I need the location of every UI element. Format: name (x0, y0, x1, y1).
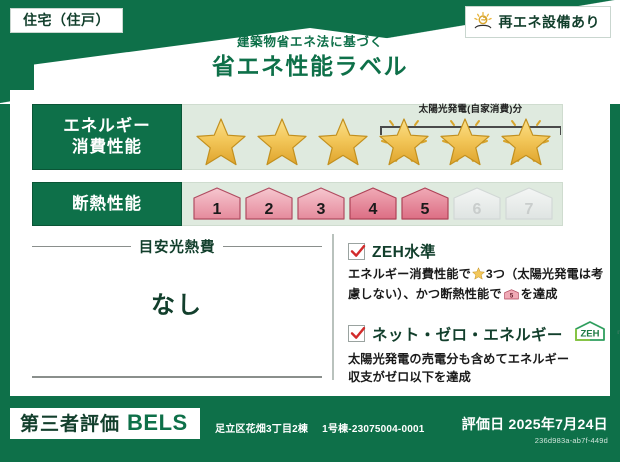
sun-icon (472, 11, 494, 33)
evaluation-date-label: 評価日 (462, 416, 505, 432)
property-address: 足立区花畑3丁目2棟1号棟-23075004-0001 (215, 420, 425, 435)
zeh-logo-icon: ZEH (573, 320, 607, 347)
energy-performance-stars-panel: 太陽光発電(自家消費)分 (182, 104, 563, 170)
checkbox-checked-icon (348, 243, 365, 260)
energy-key-line2: 消費性能 (72, 137, 142, 158)
insulation-level-3: 3 (296, 187, 346, 221)
cost-heading: 目安光熱費 (32, 236, 322, 257)
evaluation-date-line: 評価日2025年7月24日 (462, 414, 608, 434)
evaluation-date-value: 2025年7月24日 (508, 416, 608, 432)
svg-text:ZEH: ZEH (580, 329, 599, 340)
vertical-divider (332, 234, 334, 380)
zeh-standard-title: ZEH水準 (372, 240, 436, 262)
evaluation-hash: 236d983a-ab7f-449d (462, 436, 608, 445)
insulation-level-number: 5 (421, 202, 430, 218)
zeh-desc-part2: 3つ（太陽光発電 (486, 267, 579, 281)
cost-bottom-rule (32, 376, 322, 378)
certification-checks: ZEH水準 エネルギー消費性能で3つ（太陽光発電は考慮しない）、かつ断熱性能で5… (348, 240, 606, 401)
insulation-level-number: 2 (265, 202, 274, 218)
energy-key-line1: エネルギー (63, 116, 151, 137)
footer-band: 第三者評価 BELS 足立区花畑3丁目2棟1号棟-23075004-0001 評… (0, 396, 620, 462)
estimated-utility-cost-block: 目安光熱費 なし (32, 236, 322, 320)
star-solar-icon (374, 111, 434, 167)
evaluation-info: 評価日2025年7月24日 236d983a-ab7f-449d (462, 414, 608, 445)
star-solar-icon (435, 111, 495, 167)
insulation-level-number: 6 (473, 202, 482, 218)
zeh-standard-head: ZEH水準 (348, 240, 606, 262)
renewable-badge-label: 再エネ設備あり (499, 12, 601, 32)
cost-rule-left (32, 246, 131, 248)
insulation-level-number: 1 (213, 202, 222, 218)
insulation-level-2: 2 (244, 187, 294, 221)
bels-badge: 第三者評価 BELS (10, 408, 200, 439)
insulation-performance-row: 断熱性能 1 2 3 (32, 182, 563, 226)
insulation-level-5: 5 (400, 187, 450, 221)
energy-performance-label: 建築物省エネ法に基づく 省エネ性能ラベル 住宅（住戸） 再エネ設備あり (0, 0, 620, 462)
pv-bracket-tick-right (560, 126, 562, 135)
building-type-badge: 住宅（住戸） (10, 8, 123, 33)
zeh-desc-part4: を達成 (521, 287, 558, 301)
label-body: エネルギー 消費性能 太陽光発電(自家消費)分 (10, 90, 610, 396)
energy-performance-label-key: エネルギー 消費性能 (32, 104, 182, 170)
insulation-level-6: 6 (452, 187, 502, 221)
star-icon (252, 111, 312, 167)
net-zero-desc-line1: 太陽光発電の売電分も含めてエネルギー (348, 351, 606, 369)
zeh-logo-caption: 『ZEH』 (615, 330, 620, 337)
unit-id-text: 1号棟-23075004-0001 (322, 424, 424, 435)
star-rating (182, 111, 556, 167)
insulation-level-number: 7 (525, 202, 534, 218)
energy-performance-row: エネルギー 消費性能 太陽光発電(自家消費)分 (32, 104, 563, 170)
bels-jp-label: 第三者評価 (20, 415, 120, 434)
insulation-level-7: 7 (504, 187, 554, 221)
star-icon-inline (472, 267, 485, 286)
insulation-level-number: 3 (317, 202, 326, 218)
bels-en-label: BELS (127, 412, 188, 434)
star-icon (191, 111, 251, 167)
net-zero-desc-line2: 収支がゼロ以下を達成 (348, 369, 606, 387)
net-zero-description: 太陽光発電の売電分も含めてエネルギー 収支がゼロ以下を達成 (348, 351, 606, 386)
insulation-levels-panel: 1 2 3 4 5 (182, 182, 563, 226)
renewable-equipment-badge: 再エネ設備あり (465, 6, 612, 38)
zeh-standard-check: ZEH水準 エネルギー消費性能で3つ（太陽光発電は考慮しない）、かつ断熱性能で5… (348, 240, 606, 306)
insulation-level-number: 4 (369, 202, 378, 218)
cost-rule-right (223, 246, 322, 248)
net-zero-title: ネット・ゼロ・エネルギー (372, 323, 563, 345)
net-zero-head: ネット・ゼロ・エネルギー ZEH 『ZEH』 (348, 320, 606, 347)
zeh-standard-description: エネルギー消費性能で3つ（太陽光発電は考慮しない）、かつ断熱性能で5を達成 (348, 266, 606, 306)
insulation-level-1: 1 (192, 187, 242, 221)
cost-value: なし (32, 285, 322, 320)
address-text: 足立区花畑3丁目2棟 (215, 424, 308, 435)
checkbox-checked-icon (348, 325, 365, 342)
insulation-level-scale: 1 2 3 4 5 (182, 187, 554, 221)
insulation-key-text: 断熱性能 (72, 194, 142, 215)
cost-title: 目安光熱費 (139, 236, 216, 257)
insulation-performance-label-key: 断熱性能 (32, 182, 182, 226)
insulation-level-4: 4 (348, 187, 398, 221)
star-icon (313, 111, 373, 167)
net-zero-energy-check: ネット・ゼロ・エネルギー ZEH 『ZEH』 太陽光発電の売電分も含めてエネルギ… (348, 320, 606, 386)
zeh-desc-part1: エネルギー消費性能で (348, 267, 471, 281)
insulation-badge-inline: 5 (504, 288, 519, 307)
star-solar-icon (496, 111, 556, 167)
